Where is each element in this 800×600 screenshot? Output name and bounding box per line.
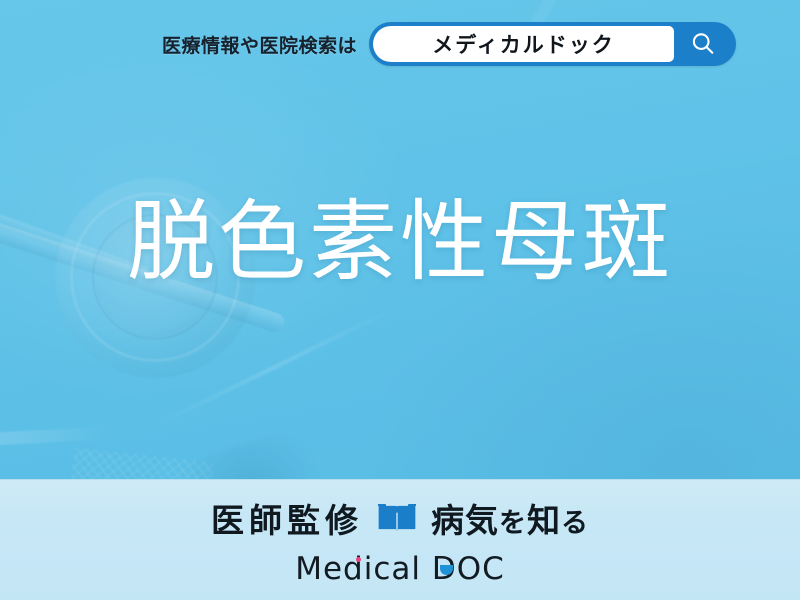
search-icon	[689, 30, 717, 58]
search-input[interactable]	[373, 26, 674, 62]
thumbnail-page: 医療情報や医院検索は 脱色素性母斑 医師監修	[0, 0, 800, 600]
know-disease-kana-ru: る	[561, 508, 589, 538]
open-book-icon	[377, 502, 417, 534]
know-disease-kanji-1: 病気	[431, 502, 499, 539]
brand-name: Medical DOC	[295, 551, 505, 587]
footer-bar: 医師監修 病気を知る Medical DOC	[0, 479, 800, 600]
know-disease-label: 病気を知る	[431, 494, 589, 542]
search-bar-row: 医療情報や医院検索は	[0, 0, 800, 88]
search-button[interactable]	[674, 26, 732, 62]
know-disease-kanji-2: 知	[527, 502, 561, 539]
search-bar[interactable]	[369, 22, 736, 66]
search-lead-label: 医療情報や医院検索は	[162, 31, 357, 58]
brand-logo: Medical DOC	[295, 551, 505, 587]
supervision-label: 医師監修	[211, 494, 363, 542]
know-disease-kana-wo: を	[499, 508, 527, 538]
page-title: 脱色素性母斑	[0, 198, 800, 286]
footer-tagline: 医師監修 病気を知る	[211, 494, 589, 542]
